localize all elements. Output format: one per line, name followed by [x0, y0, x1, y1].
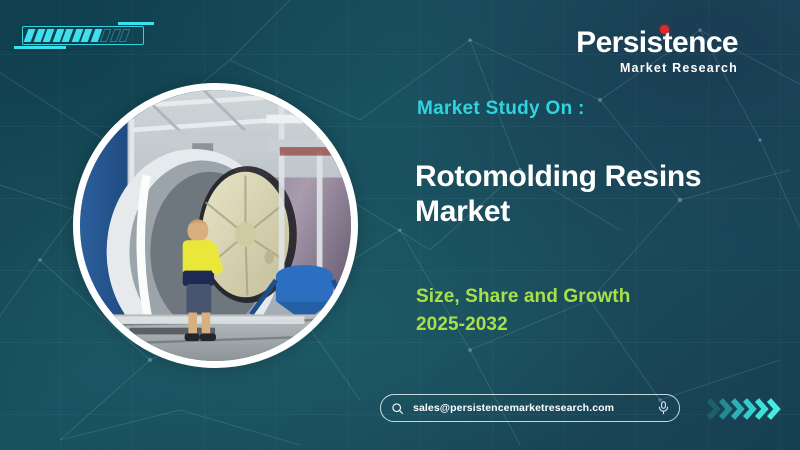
logo-brand-text: Persistence [576, 26, 738, 59]
marketing-banner: Persistence Market Research Market Study… [0, 0, 800, 450]
page-title-line-1: Rotomolding Resins [415, 160, 701, 195]
hud-segments [26, 29, 128, 42]
hero-photo [73, 83, 358, 368]
page-subtitle-line-2: 2025-2032 [416, 311, 630, 339]
search-input[interactable]: sales@persistencemarketresearch.com [413, 402, 657, 414]
hud-tick-bottom [14, 46, 66, 49]
kicker-text: Market Study On : [417, 98, 585, 120]
page-title-line-2: Market [415, 195, 701, 230]
microphone-icon[interactable] [657, 401, 670, 415]
page-subtitle-line-1: Size, Share and Growth [416, 283, 630, 311]
logo-tagline: Market Research [576, 61, 738, 75]
chevron-arrows-decoration [705, 392, 795, 426]
rotomolding-factory-illustration [80, 90, 351, 361]
page-title: Rotomolding Resins Market [415, 160, 701, 230]
search-bar[interactable]: sales@persistencemarketresearch.com [380, 394, 680, 422]
hero-photo-frame [80, 90, 351, 361]
hud-tick-top [118, 22, 154, 25]
company-logo[interactable]: Persistence Market Research [576, 28, 738, 75]
loading-bar-graphic [22, 22, 148, 48]
logo-brand-name: Persistence [576, 28, 738, 58]
page-subtitle: Size, Share and Growth 2025-2032 [416, 283, 630, 338]
search-icon[interactable] [391, 402, 404, 415]
